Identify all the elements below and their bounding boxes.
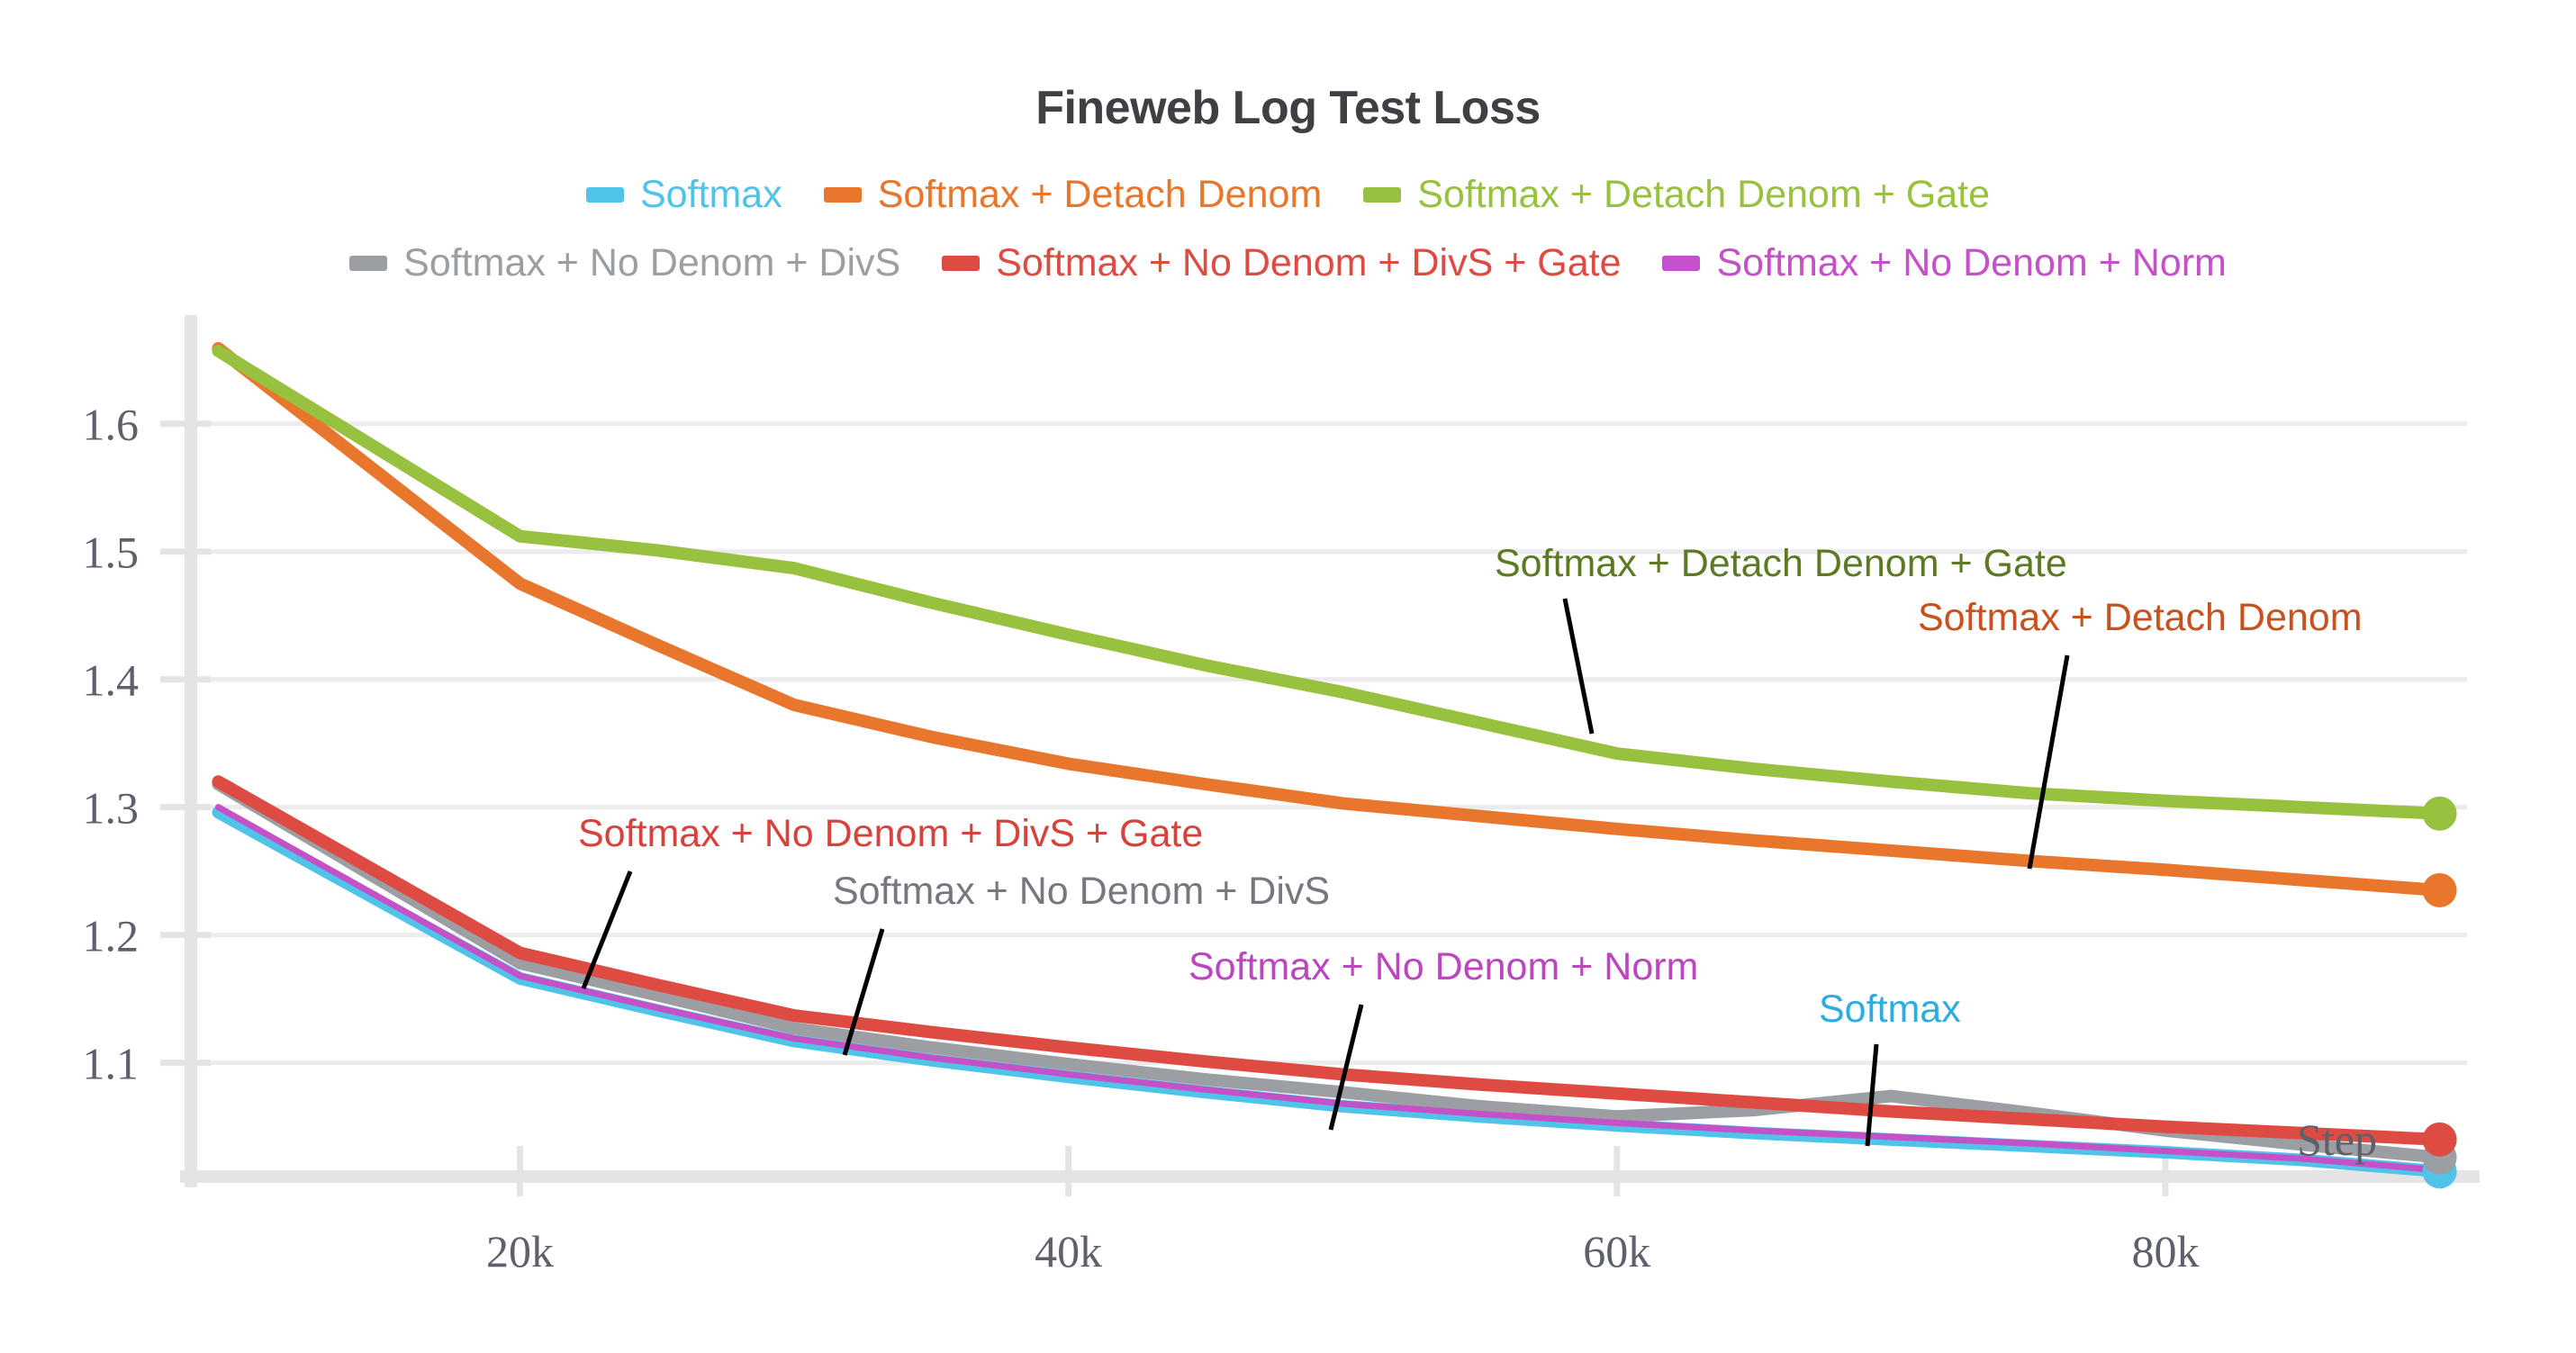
y-axis-tick-label: 1.6 bbox=[83, 400, 140, 450]
x-axis-tick-label: 60k bbox=[1583, 1226, 1650, 1276]
series-endpoint-marker bbox=[2423, 873, 2457, 907]
x-axis-title: Step bbox=[2297, 1114, 2377, 1165]
annotation-leader-line bbox=[2029, 655, 2067, 869]
y-axis-tick-label: 1.1 bbox=[83, 1039, 140, 1089]
annotation-label: Softmax + No Denom + DivS bbox=[833, 870, 1330, 913]
annotation-label: Softmax + Detach Denom + Gate bbox=[1495, 542, 2067, 585]
y-axis-tick-label: 1.2 bbox=[83, 911, 140, 961]
annotation-label: Softmax + No Denom + DivS + Gate bbox=[578, 812, 1203, 855]
x-axis-tick-label: 80k bbox=[2131, 1226, 2199, 1276]
y-axis-tick-label: 1.5 bbox=[83, 528, 140, 578]
x-axis-tick-label: 20k bbox=[486, 1226, 554, 1276]
series-line-softmax-detach-denom-gate bbox=[218, 351, 2439, 814]
annotation-label: Softmax + No Denom + Norm bbox=[1189, 945, 1698, 988]
x-axis-tick-label: 40k bbox=[1035, 1226, 1102, 1276]
annotation-label: Softmax bbox=[1819, 988, 1961, 1031]
line-chart-svg: 1.61.51.41.31.21.120k40k60k80kStepSoftma… bbox=[0, 0, 2576, 1353]
plot-area: 1.61.51.41.31.21.120k40k60k80kStepSoftma… bbox=[0, 0, 2576, 1353]
chart-annotation: Softmax + Detach Denom bbox=[1918, 596, 2363, 869]
y-axis-tick-label: 1.3 bbox=[83, 783, 140, 834]
chart-annotation: Softmax bbox=[1819, 988, 1961, 1146]
annotation-leader-line bbox=[1565, 599, 1592, 734]
y-axis-tick-label: 1.4 bbox=[83, 655, 140, 706]
chart-page: Fineweb Log Test Loss SoftmaxSoftmax + D… bbox=[0, 0, 2576, 1353]
series-endpoint-marker bbox=[2423, 1123, 2457, 1157]
annotation-label: Softmax + Detach Denom bbox=[1918, 596, 2363, 639]
series-endpoint-marker bbox=[2423, 797, 2457, 831]
